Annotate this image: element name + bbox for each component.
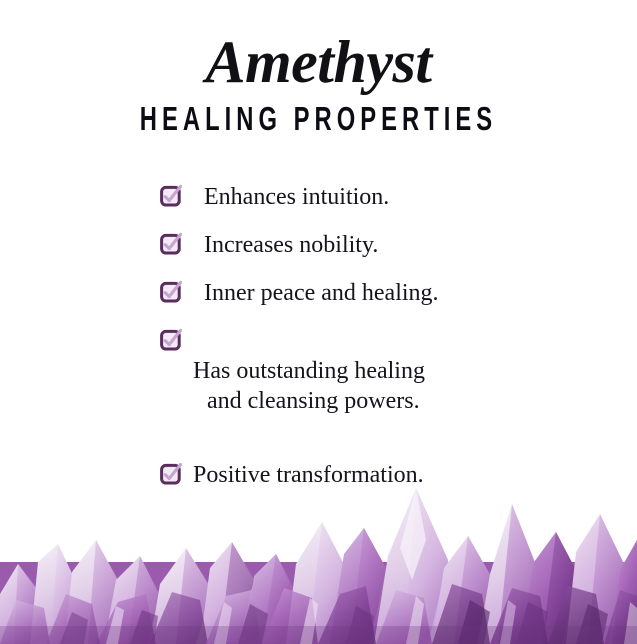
checked-checkbox-icon bbox=[160, 281, 182, 303]
list-item-line-2: and cleansing powers. bbox=[193, 386, 637, 416]
poster-header: Amethyst HEALING PROPERTIES bbox=[0, 32, 637, 135]
list-item: Positive transformation. bbox=[0, 460, 637, 490]
list-item-label: Enhances intuition. bbox=[160, 182, 637, 212]
list-item: Inner peace and healing. bbox=[0, 278, 637, 308]
list-item-label: Has outstanding healing and cleansing po… bbox=[160, 326, 637, 446]
list-item-line-1: Has outstanding healing bbox=[193, 358, 425, 384]
amethyst-healing-properties-poster: Amethyst HEALING PROPERTIES Enhances int… bbox=[0, 0, 637, 644]
list-item-label: Increases nobility. bbox=[160, 230, 637, 260]
healing-properties-list: Enhances intuition. Increases nobility. … bbox=[0, 182, 637, 508]
checked-checkbox-icon bbox=[160, 463, 182, 485]
page-title: Amethyst bbox=[0, 32, 637, 92]
list-item: Increases nobility. bbox=[0, 230, 637, 260]
checked-checkbox-icon bbox=[160, 329, 182, 351]
list-item-label: Inner peace and healing. bbox=[160, 278, 637, 308]
list-item: Has outstanding healing and cleansing po… bbox=[0, 326, 637, 446]
page-subtitle: HEALING PROPERTIES bbox=[89, 102, 548, 135]
checked-checkbox-icon bbox=[160, 185, 182, 207]
list-item-label: Positive transformation. bbox=[160, 460, 637, 490]
list-item: Enhances intuition. bbox=[0, 182, 637, 212]
checked-checkbox-icon bbox=[160, 233, 182, 255]
